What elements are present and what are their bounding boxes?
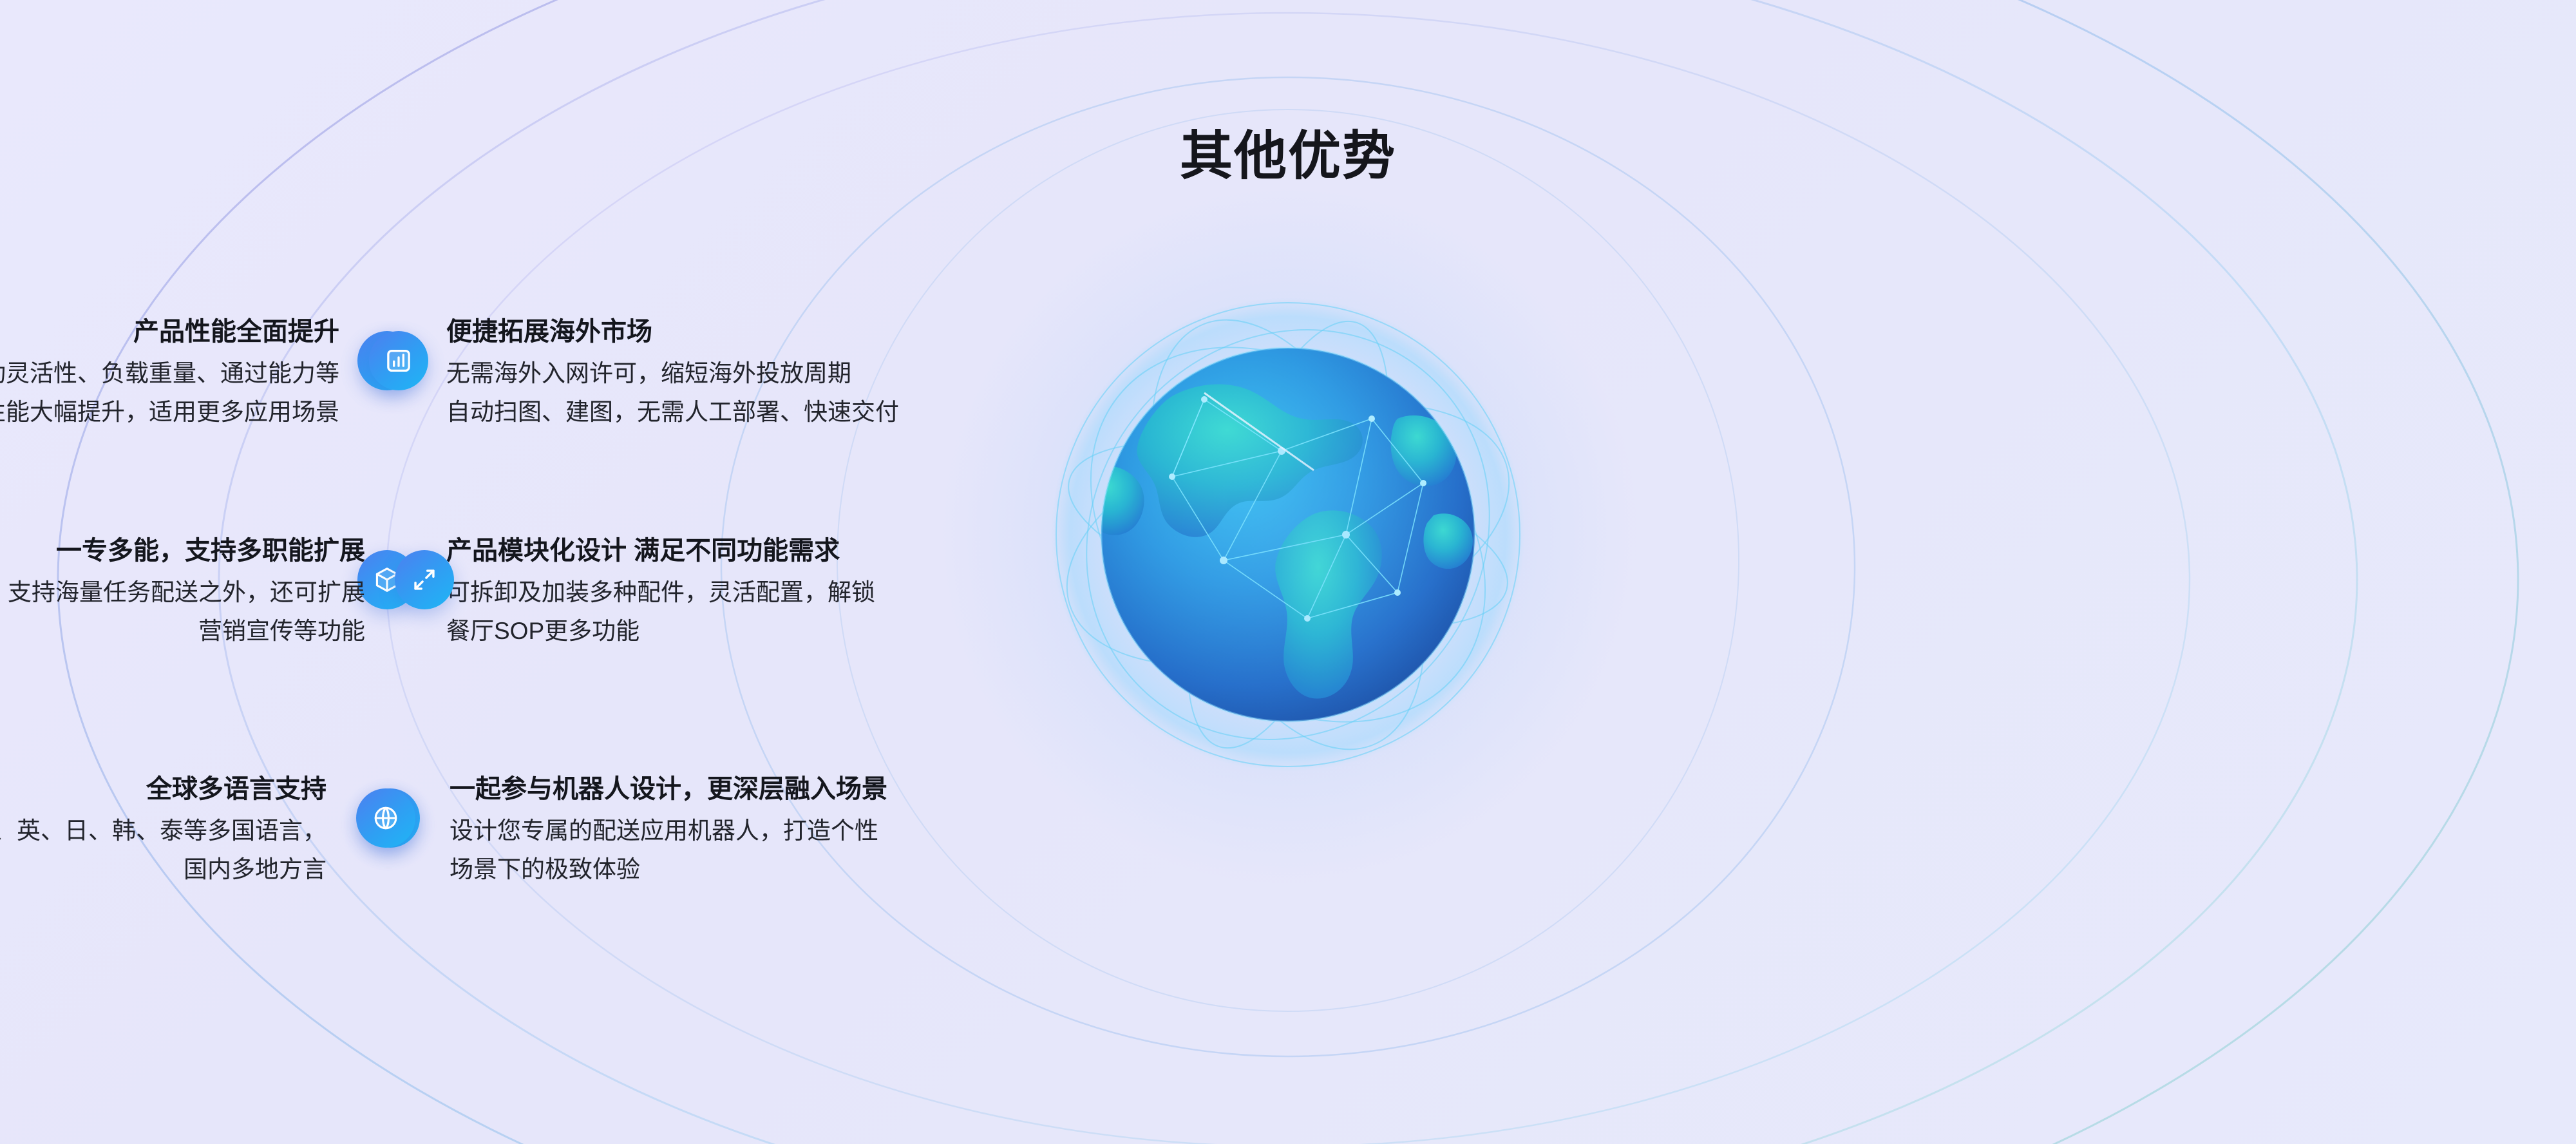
advantage-desc-line: 无需海外入网许可，缩短海外投放周期 xyxy=(446,354,899,393)
advantage-text-right-1: 产品性能全面提升 移动灵活性、负载重量、通过能力等 性能大幅提升，适用更多应用场… xyxy=(0,316,339,432)
advantages-section: 其他优势 xyxy=(0,0,2576,1144)
advantage-text-left-2: 产品模块化设计 满足不同功能需求 可拆卸及加装多种配件，灵活配置，解锁 餐厅SO… xyxy=(446,535,875,651)
globe-glow xyxy=(934,180,1642,889)
advantage-text-left-3: 一起参与机器人设计，更深层融入场景 设计您专属的配送应用机器人，打造个性 场景下… xyxy=(450,773,887,889)
advantage-desc-line: 国内多地方言 xyxy=(0,850,327,889)
advantage-title: 全球多语言支持 xyxy=(0,773,327,805)
advantage-item-right-2[interactable]: 一专多能，支持多职能扩展 支持海量任务配送之外，还可扩展 营销宣传等功能 xyxy=(0,535,454,651)
advantage-desc-line: 营销宣传等功能 xyxy=(8,612,365,651)
advantage-title: 产品模块化设计 满足不同功能需求 xyxy=(446,535,875,567)
expand-arrows-icon xyxy=(395,550,454,609)
advantage-item-right-1[interactable]: 产品性能全面提升 移动灵活性、负载重量、通过能力等 性能大幅提升，适用更多应用场… xyxy=(0,316,428,432)
advantage-title: 一起参与机器人设计，更深层融入场景 xyxy=(450,773,887,805)
advantage-title: 便捷拓展海外市场 xyxy=(446,316,899,348)
advantage-desc-line: 场景下的极致体验 xyxy=(450,850,887,889)
globe-icon xyxy=(356,788,415,848)
advantage-desc-line: 自动扫图、建图，无需人工部署、快速交付 xyxy=(446,393,899,432)
advantage-title: 产品性能全面提升 xyxy=(0,316,339,348)
advantage-desc-line: 可拆卸及加装多种配件，灵活配置，解锁 xyxy=(446,573,875,612)
chart-bar-icon xyxy=(369,331,428,390)
advantage-item-left-3[interactable]: 一起参与机器人设计，更深层融入场景 设计您专属的配送应用机器人，打造个性 场景下… xyxy=(361,773,917,889)
advantage-title: 一专多能，支持多职能扩展 xyxy=(8,535,365,567)
advantage-text-left-1: 便捷拓展海外市场 无需海外入网许可，缩短海外投放周期 自动扫图、建图，无需人工部… xyxy=(446,316,899,432)
advantage-item-right-3[interactable]: 全球多语言支持 支持中、英、日、韩、泰等多国语言， 国内多地方言 xyxy=(0,773,415,889)
advantage-text-right-2: 一专多能，支持多职能扩展 支持海量任务配送之外，还可扩展 营销宣传等功能 xyxy=(8,535,365,651)
advantage-desc-line: 移动灵活性、负载重量、通过能力等 xyxy=(0,354,339,393)
advantage-desc-line: 设计您专属的配送应用机器人，打造个性 xyxy=(450,812,887,850)
advantage-text-right-3: 全球多语言支持 支持中、英、日、韩、泰等多国语言， 国内多地方言 xyxy=(0,773,327,889)
page-title: 其他优势 xyxy=(0,113,2576,189)
globe-network-illustration xyxy=(1011,258,1565,812)
advantage-desc-line: 支持中、英、日、韩、泰等多国语言， xyxy=(0,812,327,850)
advantage-desc-line: 性能大幅提升，适用更多应用场景 xyxy=(0,393,339,432)
advantage-item-left-1[interactable]: 便捷拓展海外市场 无需海外入网许可，缩短海外投放周期 自动扫图、建图，无需人工部… xyxy=(357,316,929,432)
advantage-desc-line: 支持海量任务配送之外，还可扩展 xyxy=(8,573,365,612)
advantage-desc-line: 餐厅SOP更多功能 xyxy=(446,612,875,651)
